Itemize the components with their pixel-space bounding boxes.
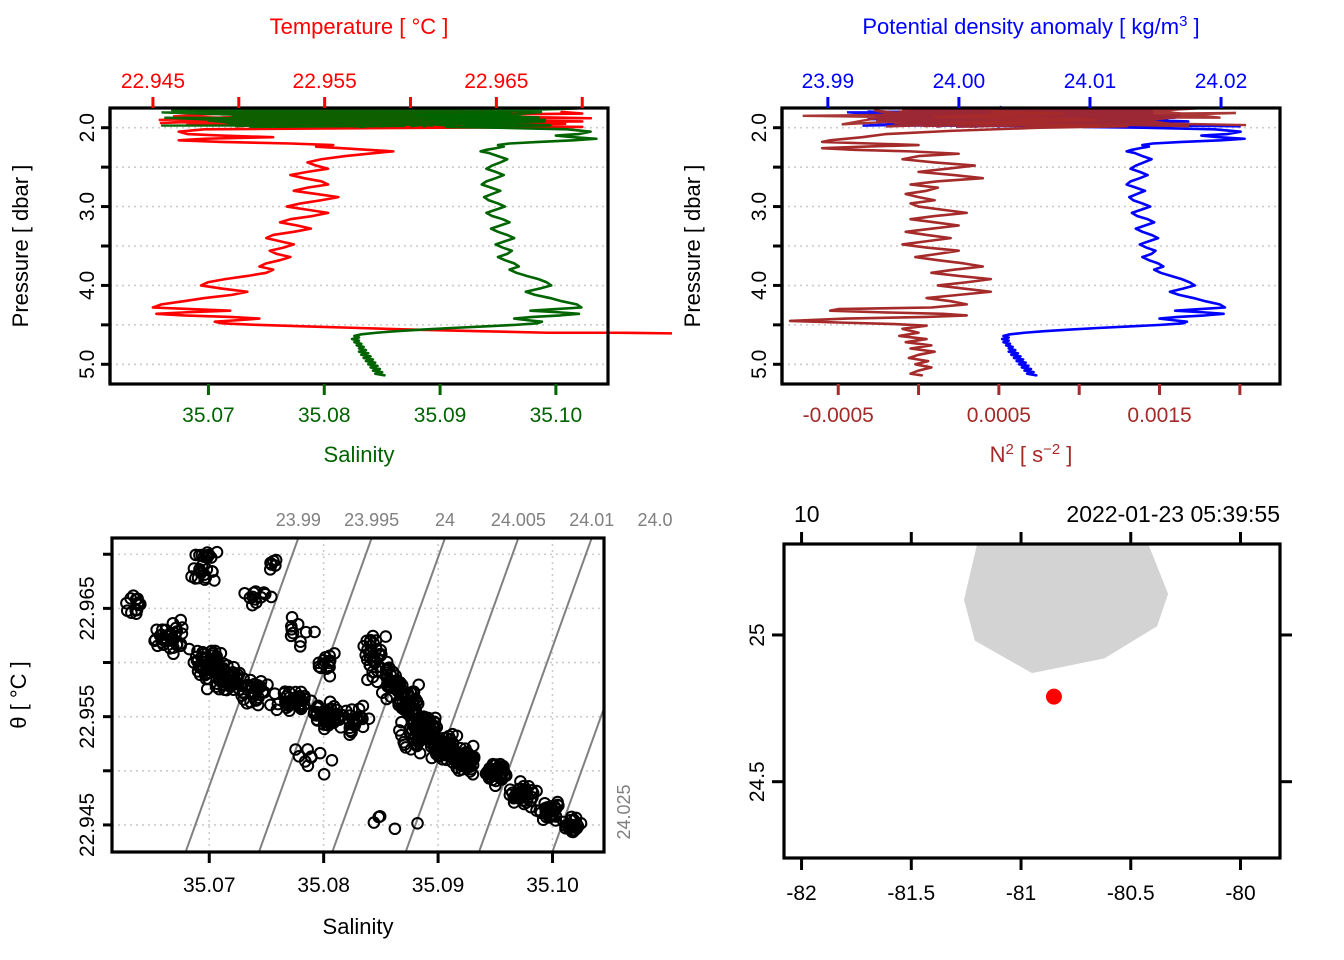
top-axis-tick-label: 24.02 (1195, 70, 1248, 93)
salinity-tick-label: 35.07 (183, 874, 236, 897)
top-axis-tick-label: 22.955 (293, 70, 357, 93)
isopycnal-label-top: 24.005 (491, 510, 546, 530)
bottom-axis-tick-label: 0.0005 (967, 404, 1031, 427)
bottom-axis-title: Salinity (324, 442, 395, 467)
top-axis-tick-label: 24.00 (933, 70, 986, 93)
top-axis-tick-label: 24.01 (1064, 70, 1117, 93)
ctd-summary-figure: 2.03.04.05.0Pressure [ dbar ]22.94522.95… (0, 0, 1344, 960)
theta-tick-label: 22.945 (76, 793, 99, 857)
longitude-tick-label: -81.5 (887, 882, 935, 905)
bottom-axis-tick-label: 35.09 (414, 404, 467, 427)
bottom-axis-tick-label: 35.07 (182, 404, 235, 427)
theta-tick-label: 22.955 (76, 685, 99, 749)
salinity-tick-label: 35.09 (412, 874, 465, 897)
longitude-tick-label: -80.5 (1107, 882, 1155, 905)
panel-profile-temperature-salinity: 2.03.04.05.0Pressure [ dbar ]22.94522.95… (0, 0, 672, 480)
theta-s-plot: 35.0735.0835.0935.10Salinity22.94522.955… (0, 480, 672, 960)
pressure-tick-label: 3.0 (748, 192, 771, 221)
pressure-tick-label: 2.0 (748, 113, 771, 142)
bottom-axis-tick-label: 0.0015 (1127, 404, 1191, 427)
top-axis-tick-label: 23.99 (802, 70, 855, 93)
map-title-right: 2022-01-23 05:39:55 (1066, 501, 1280, 527)
longitude-tick-label: -80 (1225, 882, 1255, 905)
bottom-axis-tick-label: 35.08 (298, 404, 351, 427)
longitude-tick-label: -82 (786, 882, 816, 905)
bottom-axis-title: N2 [ s−2 ] (990, 441, 1073, 468)
series-line-potential-density-anomaly (1002, 112, 1244, 375)
pressure-tick-label: 5.0 (748, 350, 771, 379)
density-n2-plot: 2.03.04.05.0Pressure [ dbar ]23.9924.002… (672, 0, 1344, 480)
pressure-tick-label: 4.0 (76, 271, 99, 300)
pressure-tick-label: 2.0 (76, 113, 99, 142)
top-axis-title: Potential density anomaly [ kg/m3 ] (862, 13, 1199, 40)
isopycnal-label-right: 24.025 (614, 784, 634, 839)
land-polygon (964, 544, 1168, 673)
salinity-tick-label: 35.08 (297, 874, 350, 897)
station-marker (1046, 689, 1062, 705)
isopycnal-label-top: 24 (435, 510, 455, 530)
panel-profile-density-n2: 2.03.04.05.0Pressure [ dbar ]23.9924.002… (672, 0, 1344, 480)
ts-data-point (380, 631, 391, 642)
top-axis-tick-label: 22.945 (121, 70, 185, 93)
bottom-axis-tick-label: 35.10 (530, 404, 583, 427)
ts-data-point (319, 769, 330, 780)
map-title-left: 10 (794, 501, 820, 527)
panel-station-map: -82-81.5-81-80.5-8024.525102022-01-23 05… (672, 480, 1344, 960)
top-axis-tick-label: 22.965 (464, 70, 528, 93)
panel-ts-diagram: 35.0735.0835.0935.10Salinity22.94522.955… (0, 480, 672, 960)
longitude-tick-label: -81 (1006, 882, 1036, 905)
isopycnal-label-top: 24.015 (638, 510, 672, 530)
ts-data-point (327, 755, 338, 766)
top-axis-title: Temperature [ °C ] (270, 14, 449, 39)
salinity-axis-title: Salinity (323, 914, 394, 939)
theta-tick-label: 22.965 (76, 576, 99, 640)
latitude-tick-label: 24.5 (746, 761, 769, 802)
pressure-tick-label: 5.0 (76, 350, 99, 379)
isopycnal-label-top: 23.995 (344, 510, 399, 530)
isopycnal-label-top: 24.01 (569, 510, 614, 530)
profile-plot: 2.03.04.05.0Pressure [ dbar ]22.94522.95… (0, 0, 672, 480)
theta-axis-title: θ [ °C ] (6, 661, 31, 728)
salinity-tick-label: 35.10 (526, 874, 579, 897)
station-map-plot: -82-81.5-81-80.5-8024.525102022-01-23 05… (672, 480, 1344, 960)
latitude-tick-label: 25 (746, 623, 769, 646)
pressure-tick-label: 4.0 (748, 271, 771, 300)
series-line-temperature (153, 112, 672, 375)
pressure-axis-title: Pressure [ dbar ] (680, 165, 705, 328)
pressure-tick-label: 3.0 (76, 192, 99, 221)
pressure-axis-title: Pressure [ dbar ] (8, 165, 33, 328)
isopycnal-label-top: 23.99 (276, 510, 321, 530)
bottom-axis-tick-label: -0.0005 (803, 404, 874, 427)
series-line-n2 (790, 112, 1127, 375)
